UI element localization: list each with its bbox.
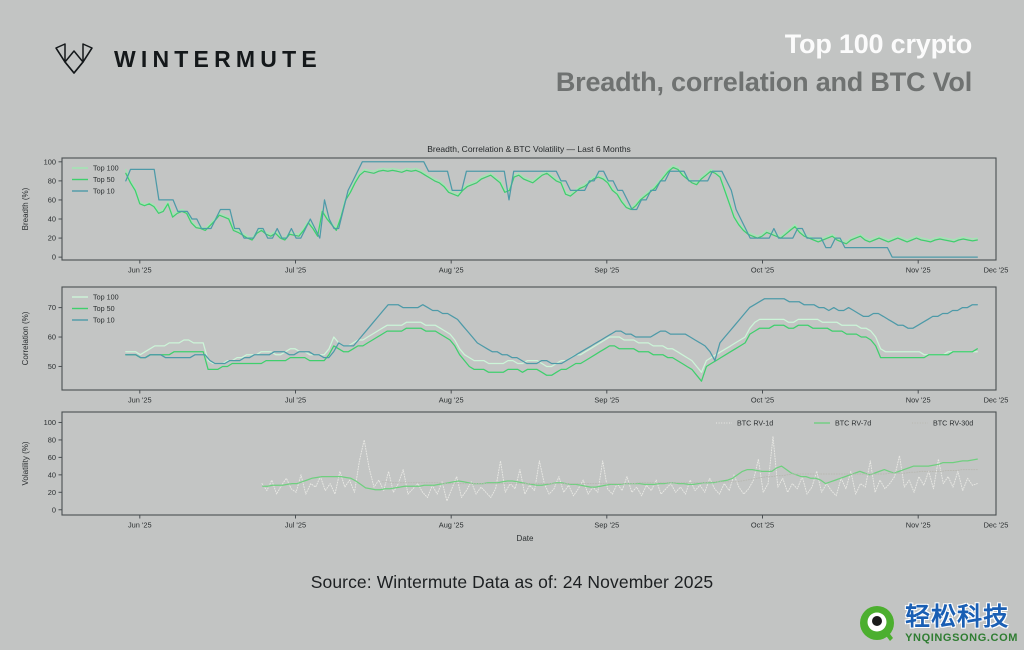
y-tick-label: 60 bbox=[48, 196, 56, 205]
y-tick-label: 60 bbox=[48, 453, 56, 462]
green-circle-eye-icon bbox=[856, 603, 898, 645]
x-tick-label: Oct '25 bbox=[751, 396, 774, 405]
legend-label[interactable]: Top 10 bbox=[93, 316, 115, 325]
chart-panel-volatility: 020406080100Volatility (%)Jun '25Jul '25… bbox=[21, 412, 1008, 543]
x-tick-label: Aug '25 bbox=[439, 266, 464, 275]
x-tick-label: Nov '25 bbox=[906, 396, 931, 405]
y-tick-label: 40 bbox=[48, 215, 56, 224]
legend-label[interactable]: Top 100 bbox=[93, 293, 119, 302]
y-tick-label: 100 bbox=[44, 418, 56, 427]
x-tick-label: Dec '25 bbox=[984, 521, 1009, 530]
legend-label[interactable]: Top 50 bbox=[93, 304, 115, 313]
y-tick-label: 80 bbox=[48, 176, 56, 185]
y-tick-label: 60 bbox=[48, 333, 56, 342]
x-tick-label: Aug '25 bbox=[439, 396, 464, 405]
x-tick-label: Jun '25 bbox=[128, 266, 152, 275]
y-axis-label: Correlation (%) bbox=[21, 311, 30, 365]
legend-label[interactable]: BTC RV-1d bbox=[737, 419, 773, 428]
watermark-en-text: YNQINGSONG.COM bbox=[905, 633, 1018, 644]
chart-suptitle: Breadth, Correlation & BTC Volatility — … bbox=[427, 144, 631, 154]
x-tick-label: Dec '25 bbox=[984, 266, 1009, 275]
brand-lockup: WINTERMUTE bbox=[52, 42, 322, 76]
legend-label[interactable]: Top 50 bbox=[93, 175, 115, 184]
y-tick-label: 0 bbox=[52, 253, 56, 262]
watermark: 轻松科技 YNQINGSONG.COM bbox=[856, 603, 1018, 645]
x-tick-label: Sep '25 bbox=[594, 521, 619, 530]
x-axis-label: Date bbox=[517, 534, 534, 543]
y-tick-label: 70 bbox=[48, 303, 56, 312]
x-tick-label: Aug '25 bbox=[439, 521, 464, 530]
legend-label[interactable]: Top 100 bbox=[93, 164, 119, 173]
x-tick-label: Jul '25 bbox=[285, 266, 306, 275]
y-tick-label: 50 bbox=[48, 362, 56, 371]
x-tick-label: Nov '25 bbox=[906, 521, 931, 530]
y-axis-label: Breadth (%) bbox=[21, 187, 30, 230]
y-tick-label: 20 bbox=[48, 234, 56, 243]
page-title-primary: Top 100 crypto bbox=[556, 28, 972, 62]
y-tick-label: 100 bbox=[44, 157, 56, 166]
legend-label[interactable]: Top 10 bbox=[93, 187, 115, 196]
y-tick-label: 0 bbox=[52, 505, 56, 514]
chart-panel-correlation: 506070Correlation (%)Jun '25Jul '25Aug '… bbox=[21, 287, 1008, 405]
y-tick-label: 80 bbox=[48, 436, 56, 445]
chart-svg: Breadth, Correlation & BTC Volatility — … bbox=[0, 140, 1024, 550]
watermark-cn-text: 轻松科技 bbox=[905, 605, 1018, 630]
x-tick-label: Jun '25 bbox=[128, 521, 152, 530]
x-tick-label: Sep '25 bbox=[594, 266, 619, 275]
y-tick-label: 40 bbox=[48, 470, 56, 479]
x-tick-label: Sep '25 bbox=[594, 396, 619, 405]
source-note: Source: Wintermute Data as of: 24 Novemb… bbox=[0, 572, 1024, 593]
chart-figure: Breadth, Correlation & BTC Volatility — … bbox=[0, 140, 1024, 550]
legend-label[interactable]: BTC RV-7d bbox=[835, 419, 871, 428]
y-axis-label: Volatility (%) bbox=[21, 441, 30, 485]
header-titles: Top 100 crypto Breadth, correlation and … bbox=[556, 28, 972, 100]
x-tick-label: Jul '25 bbox=[285, 521, 306, 530]
x-tick-label: Jul '25 bbox=[285, 396, 306, 405]
x-tick-label: Nov '25 bbox=[906, 266, 931, 275]
page-title-secondary: Breadth, correlation and BTC Vol bbox=[556, 66, 972, 100]
y-tick-label: 20 bbox=[48, 488, 56, 497]
x-tick-label: Dec '25 bbox=[984, 396, 1009, 405]
x-tick-label: Oct '25 bbox=[751, 266, 774, 275]
x-tick-label: Jun '25 bbox=[128, 396, 152, 405]
brand-name: WINTERMUTE bbox=[114, 46, 322, 73]
legend-label[interactable]: BTC RV-30d bbox=[933, 419, 973, 428]
wintermute-diamond-icon bbox=[52, 42, 96, 76]
x-tick-label: Oct '25 bbox=[751, 521, 774, 530]
chart-panel-breadth: 020406080100Breadth (%)Jun '25Jul '25Aug… bbox=[21, 157, 1008, 274]
